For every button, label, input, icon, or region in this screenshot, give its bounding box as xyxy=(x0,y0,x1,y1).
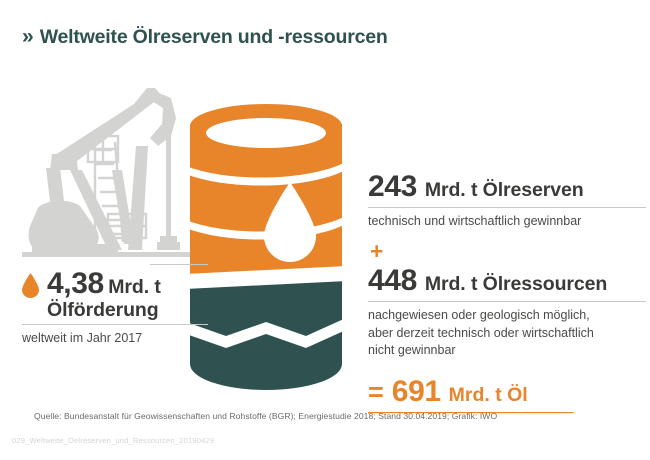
resources-unit: Mrd. t Ölressourcen xyxy=(425,273,607,296)
plus-operator-icon: + xyxy=(370,240,646,263)
left-connector-rule xyxy=(150,264,208,265)
resources-note-line-1: nachgewiesen oder geologisch möglich, xyxy=(368,307,646,325)
total-value: 691 xyxy=(392,375,441,409)
production-label: Ölförderung xyxy=(47,300,161,320)
total-stat-block: = 691 Mrd. t Öl xyxy=(368,375,646,414)
resources-note-line-3: nicht gewinnbar xyxy=(368,342,646,360)
reserves-value: 243 xyxy=(368,170,417,204)
oil-barrel-icon xyxy=(186,100,346,392)
resources-value: 448 xyxy=(368,264,417,298)
oil-pumpjack-icon xyxy=(16,84,206,276)
production-unit: Mrd. t xyxy=(108,276,160,298)
oil-droplet-icon xyxy=(22,273,39,298)
chevron-double-right-icon: » xyxy=(22,26,34,47)
resources-stat-block: 448 Mrd. t Ölressourcen nachgewiesen ode… xyxy=(368,264,646,360)
barrel-opening xyxy=(206,118,326,148)
page-title: » Weltweite Ölreserven und -ressourcen xyxy=(22,26,388,48)
file-identifier-watermark: 029_Weltweite_Oelreserven_und_Ressourcen… xyxy=(12,436,214,445)
resources-note-line-2: aber derzeit technisch oder wirtschaftli… xyxy=(368,325,646,343)
total-unit: Mrd. t Öl xyxy=(449,384,528,407)
page-title-text: Weltweite Ölreserven und -ressourcen xyxy=(40,28,388,48)
resources-divider xyxy=(368,301,646,302)
reserves-resources-column: 243 Mrd. t Ölreserven technisch und wirt… xyxy=(368,170,646,414)
reserves-unit: Mrd. t Ölreserven xyxy=(425,179,584,202)
reserves-note: technisch und wirtschaftlich gewinnbar xyxy=(368,213,646,231)
reserves-stat-block: 243 Mrd. t Ölreserven technisch und wirt… xyxy=(368,170,646,231)
production-divider xyxy=(22,324,208,325)
source-note: Quelle: Bundesanstalt für Geowissenschaf… xyxy=(34,411,497,421)
production-note: weltweit im Jahr 2017 xyxy=(22,330,208,347)
production-stat-block: 4,38 Mrd. t Ölförderung weltweit im Jahr… xyxy=(22,268,208,347)
reserves-divider xyxy=(368,207,646,208)
infographic-canvas: » Weltweite Ölreserven und -ressourcen xyxy=(0,0,650,460)
production-value: 4,38 xyxy=(47,267,104,300)
equals-operator-icon: = xyxy=(368,377,384,408)
